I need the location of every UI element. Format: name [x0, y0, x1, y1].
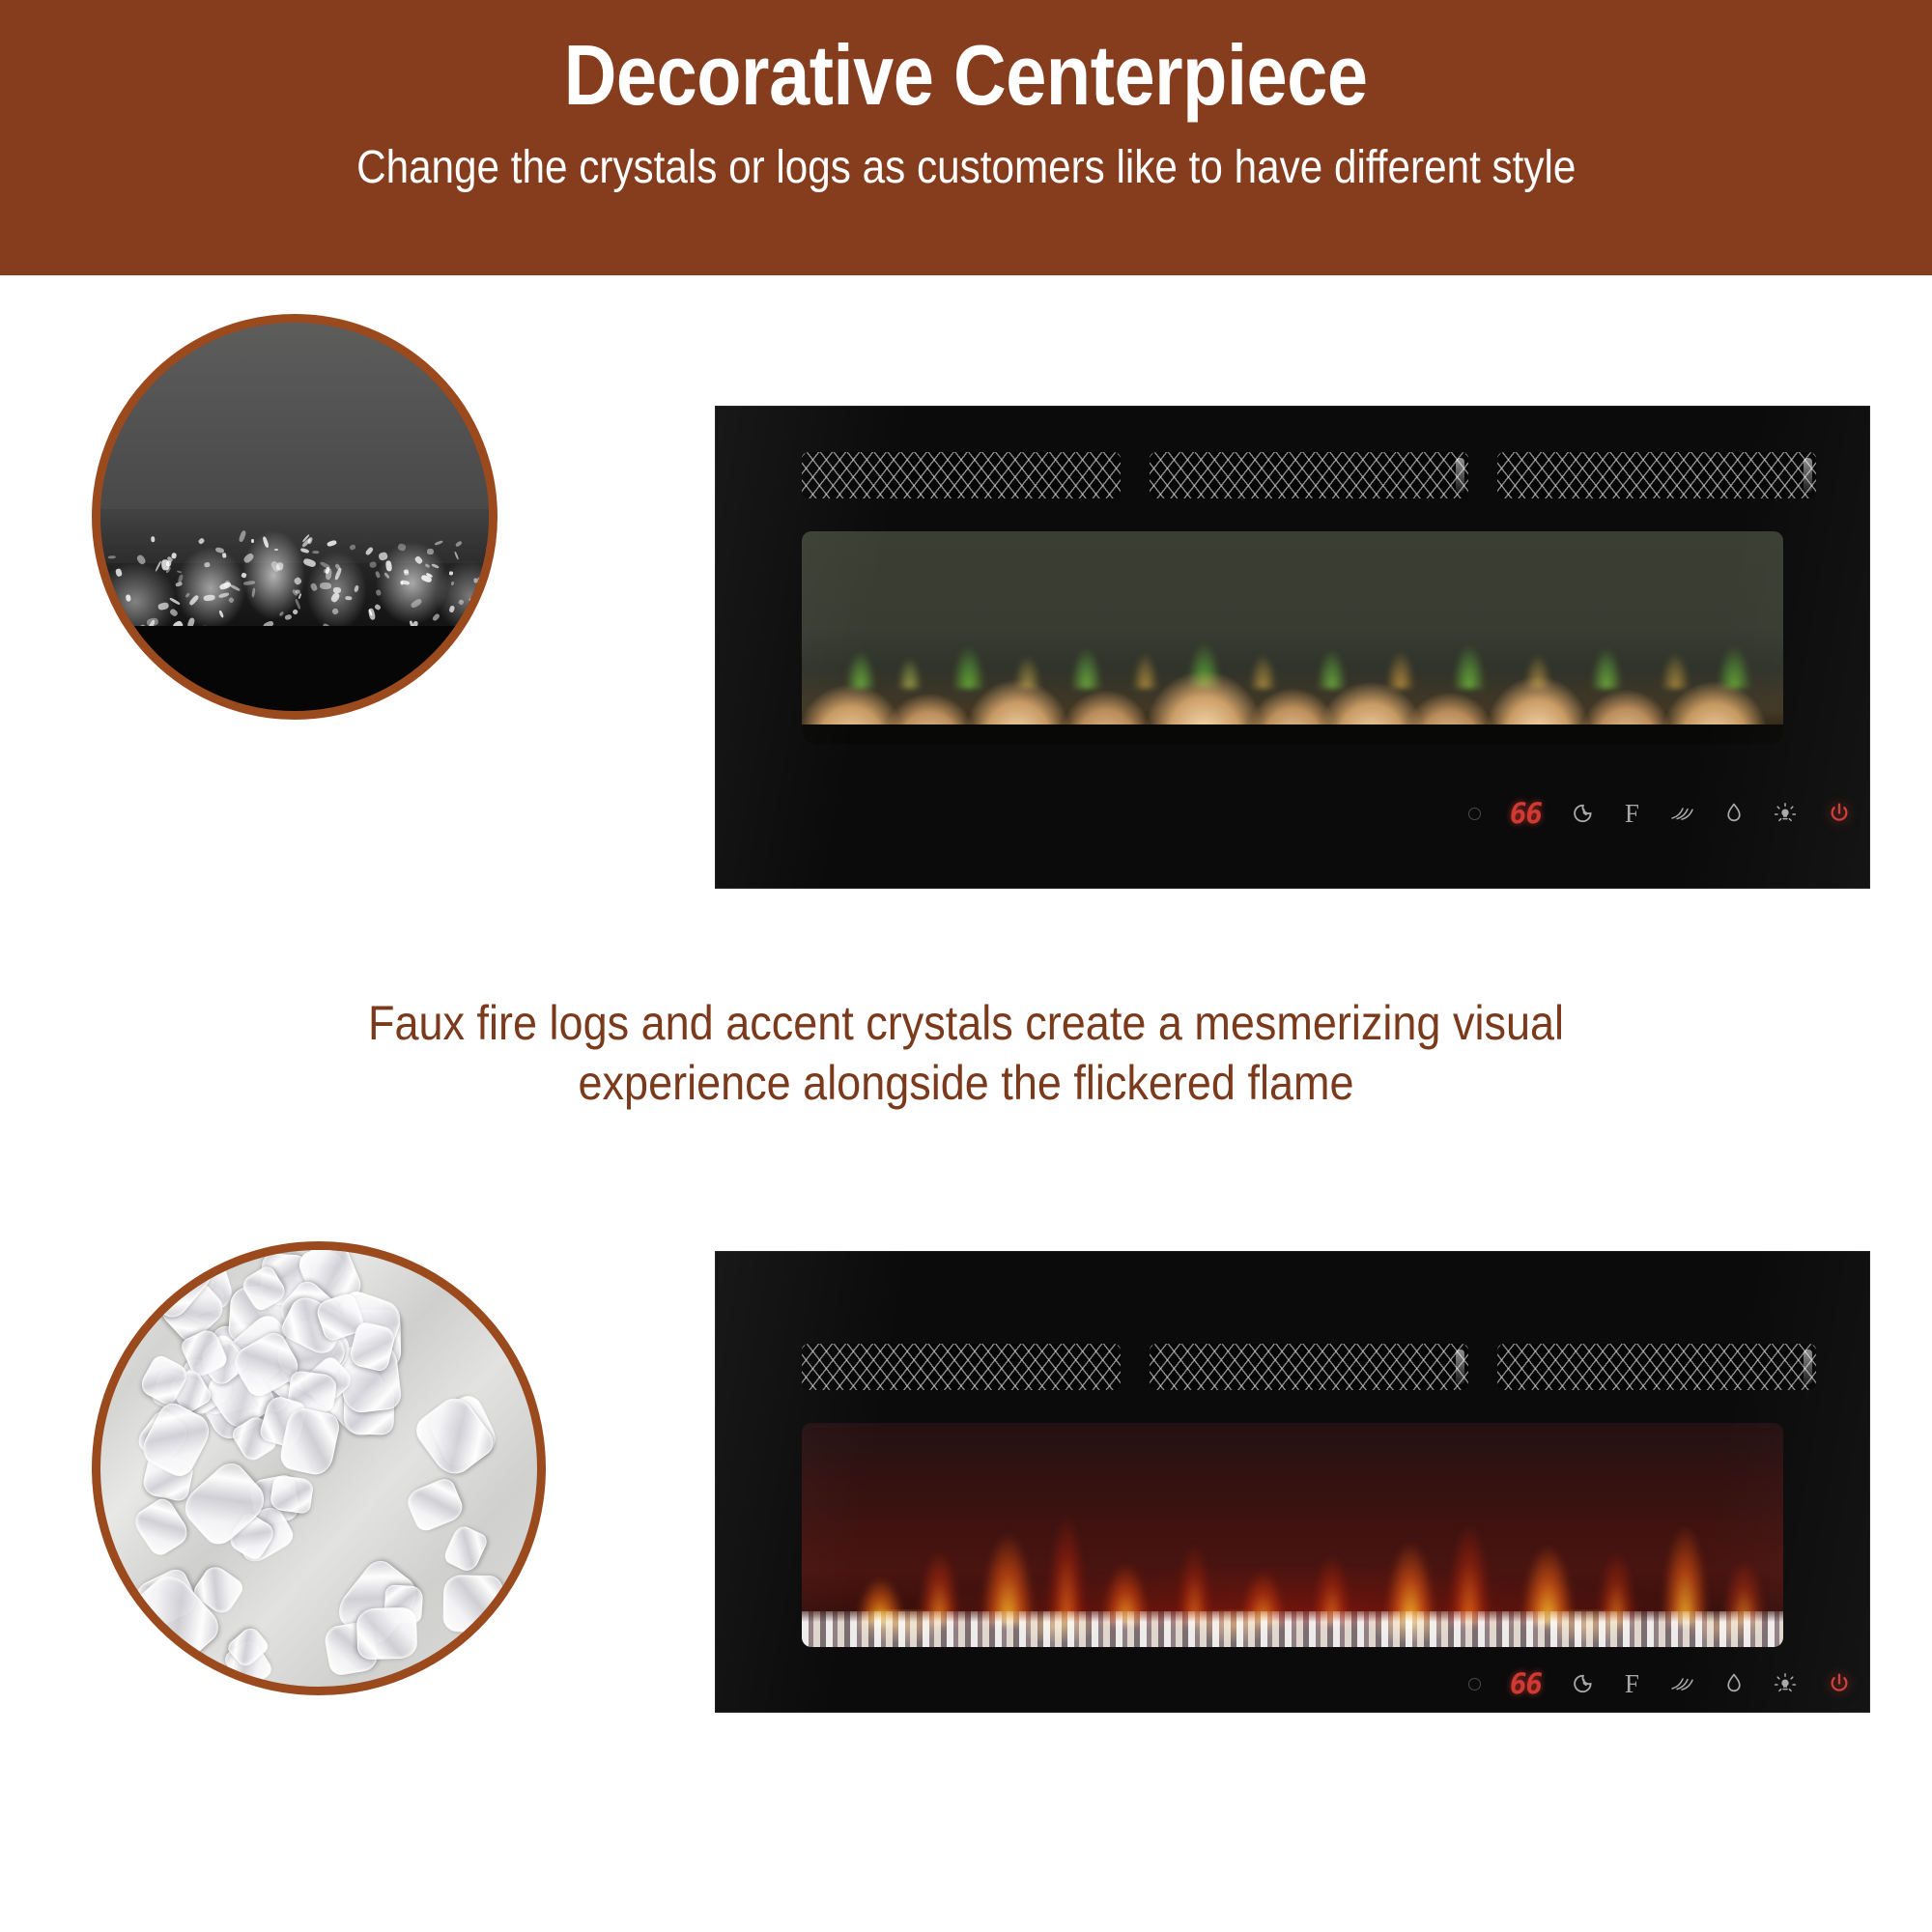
ember-speck: [320, 582, 332, 590]
ember-speck: [204, 595, 215, 602]
ember-speck: [369, 561, 377, 568]
flame-display-orange: [802, 1450, 1783, 1625]
ember-speck: [292, 609, 298, 615]
vent-highlight: [1456, 1350, 1464, 1384]
ember-speck: [218, 591, 230, 598]
ember-speck: [309, 582, 318, 592]
ember-speck: [385, 560, 392, 572]
ember-speck: [375, 571, 381, 579]
page-title: Decorative Centerpiece: [564, 33, 1368, 118]
ember-speck: [239, 529, 247, 542]
ember-speck: [176, 582, 184, 587]
crystal-shard: [411, 1391, 499, 1482]
ember-speck: [98, 581, 108, 590]
ember-speck: [489, 616, 497, 625]
crystal-shard: [403, 1475, 466, 1534]
ember-speck: [410, 598, 422, 609]
ember-speck: [151, 536, 156, 543]
control-panel-logs[interactable]: 66 F: [1468, 796, 1852, 831]
temperature-display[interactable]: 66: [1510, 797, 1542, 830]
fireplace-logs-unit[interactable]: 66 F: [715, 406, 1870, 889]
ember-speck: [400, 581, 404, 585]
ember-speck: [330, 592, 341, 604]
ember-speck: [300, 548, 310, 554]
ember-speck: [92, 614, 98, 621]
ember-speck: [405, 571, 410, 576]
glass-viewing-window-crystals: [802, 1423, 1783, 1647]
glass-viewing-window-logs: [802, 531, 1783, 744]
ember-speck: [108, 554, 116, 558]
log-inset-shadow-band: [100, 626, 489, 711]
ember-speck: [448, 605, 455, 613]
fireplace-crystals-unit[interactable]: 66 F: [715, 1251, 1870, 1713]
mid-caption-line-2: experience alongside the flickered flame: [97, 1053, 1835, 1113]
vent-highlight: [1804, 458, 1812, 493]
crystal-bed-glow: [802, 1609, 1783, 1647]
heat-waves-icon[interactable]: [1668, 797, 1695, 830]
ember-speck: [251, 539, 254, 543]
log-inset-ember-texture: [92, 509, 497, 641]
ember-speck: [350, 544, 357, 551]
crystal-closeup-inset: [92, 1241, 546, 1695]
ember-speck: [302, 557, 316, 568]
sensor-dot-icon: [1468, 797, 1481, 830]
fahrenheit-unit[interactable]: F: [1625, 797, 1639, 830]
ember-speck: [490, 607, 497, 615]
ember-speck: [496, 592, 497, 596]
vent-highlight: [1804, 1350, 1812, 1384]
ember-speck: [450, 581, 454, 585]
ember-speck: [169, 608, 179, 616]
ember-speck: [242, 553, 255, 565]
ember-speck: [427, 549, 434, 555]
crystal-field: [100, 1250, 537, 1687]
ember-speck: [365, 546, 375, 555]
temperature-display[interactable]: 66: [1510, 1667, 1542, 1700]
vent-highlight: [1456, 458, 1464, 493]
ember-speck: [228, 597, 235, 604]
ember-speck: [279, 611, 284, 616]
power-icon[interactable]: [1827, 797, 1852, 830]
log-closeup-inset: [92, 314, 497, 720]
ember-speck: [472, 600, 481, 607]
crystal-shard: [356, 1606, 418, 1660]
ember-speck: [93, 603, 100, 609]
ember-speck: [198, 537, 206, 545]
flame-icon[interactable]: [1724, 1667, 1744, 1700]
ember-speck: [276, 562, 284, 571]
light-bulb-icon[interactable]: [1773, 797, 1798, 830]
page-subtitle: Change the crystals or logs as customers…: [356, 145, 1576, 191]
ember-speck: [379, 552, 389, 561]
vent-row: [802, 1344, 1816, 1390]
ember-speck: [384, 572, 390, 579]
sensor-dot-icon: [1468, 1667, 1481, 1700]
ember-speck: [346, 596, 353, 601]
vent-grille-left: [802, 452, 1121, 498]
ember-speck: [243, 581, 255, 585]
ember-speck: [435, 540, 443, 546]
ember-speck: [424, 563, 429, 568]
ember-speck: [274, 549, 278, 551]
power-icon[interactable]: [1827, 1667, 1852, 1700]
ember-speck: [222, 554, 226, 558]
ember-speck: [241, 572, 247, 578]
ember-speck: [250, 587, 255, 598]
crystal-shard: [269, 1474, 313, 1515]
mid-caption: Faux fire logs and accent crystals creat…: [0, 993, 1932, 1113]
ember-speck: [262, 536, 270, 549]
ember-speck: [476, 575, 486, 584]
ember-speck: [101, 595, 109, 601]
ember-speck: [478, 592, 487, 601]
log-bed-base-shadow: [802, 724, 1783, 744]
vent-grille-center: [1150, 452, 1468, 498]
ember-speck: [218, 610, 224, 618]
ember-speck: [157, 602, 169, 611]
ember-speck: [185, 593, 190, 598]
vent-grille-right: [1497, 452, 1816, 498]
crystal-shard: [441, 1523, 489, 1574]
ember-speck: [431, 564, 440, 570]
ember-speck: [375, 590, 382, 597]
ember-speck: [92, 575, 96, 580]
ember-speck: [115, 568, 123, 578]
ember-speck: [486, 546, 489, 554]
ember-speck: [374, 604, 382, 611]
ember-speck: [458, 599, 465, 605]
vent-row: [802, 452, 1816, 498]
timer-icon[interactable]: [1571, 797, 1596, 830]
ember-speck: [334, 568, 342, 581]
crystal-shard: [443, 1575, 503, 1633]
ember-speck: [125, 594, 130, 601]
ember-speck: [95, 565, 101, 577]
ember-speck: [294, 577, 302, 585]
ember-speck: [135, 554, 147, 566]
header-banner: Decorative Centerpiece Change the crysta…: [0, 0, 1932, 275]
ember-speck: [454, 552, 459, 560]
vent-grille-center: [1150, 1344, 1468, 1390]
light-bulb-icon[interactable]: [1773, 1667, 1798, 1700]
ember-speck: [307, 537, 313, 545]
ember-speck: [285, 613, 293, 620]
crystal-shard: [130, 1494, 193, 1559]
ember-speck: [92, 601, 93, 607]
ember-speck: [432, 612, 440, 621]
timer-icon[interactable]: [1571, 1667, 1596, 1700]
ember-speck: [414, 555, 423, 564]
ember-speck: [204, 562, 210, 568]
ember-speck: [102, 573, 110, 580]
ember-speck: [94, 566, 100, 570]
ember-speck: [169, 597, 181, 606]
fahrenheit-unit[interactable]: F: [1625, 1667, 1639, 1700]
vent-grille-right: [1497, 1344, 1816, 1390]
ember-speck: [397, 543, 407, 552]
ember-speck: [327, 539, 338, 547]
ember-speck: [448, 571, 453, 575]
ember-speck: [331, 608, 339, 615]
flame-icon[interactable]: [1724, 797, 1744, 830]
heat-waves-icon[interactable]: [1668, 1667, 1695, 1700]
ember-speck: [493, 554, 497, 558]
mid-caption-line-1: Faux fire logs and accent crystals creat…: [97, 993, 1835, 1053]
ember-speck: [189, 594, 200, 606]
control-panel-crystals[interactable]: 66 F: [1468, 1666, 1852, 1701]
ember-speck: [312, 551, 320, 554]
ember-speck: [354, 585, 359, 593]
ember-speck: [455, 540, 463, 548]
ember-speck: [469, 603, 474, 609]
vent-grille-left: [802, 1344, 1121, 1390]
